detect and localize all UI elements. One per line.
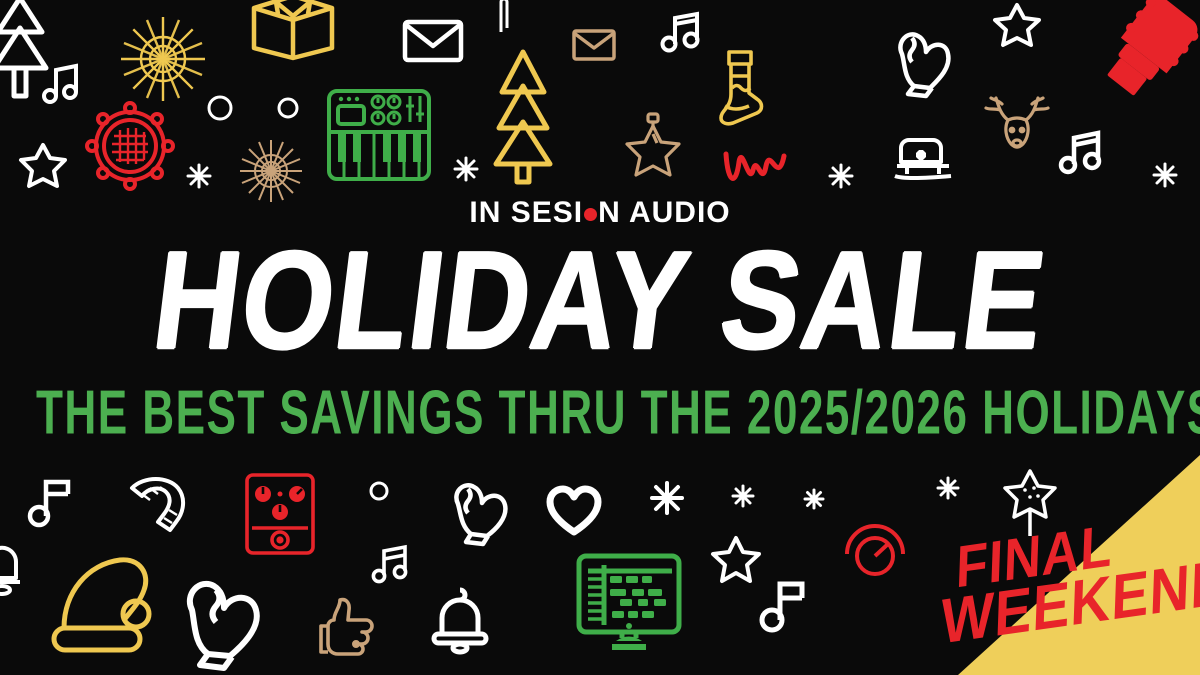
- music-note-icon: [760, 576, 808, 634]
- bell-ornament-icon: [0, 546, 28, 606]
- snowflake-small-icon: [803, 488, 825, 510]
- star-outline-icon: [710, 535, 762, 585]
- thumbs-up-icon: [316, 596, 374, 656]
- heart-icon: [546, 486, 602, 536]
- snowflake-small-icon: [828, 163, 854, 189]
- midi-keyboard-icon: [326, 88, 432, 182]
- snowflake-small-icon: [1184, 493, 1200, 517]
- music-note-double-icon: [660, 10, 704, 56]
- guitar-pedal-icon: [244, 472, 316, 556]
- music-note-double-icon: [1058, 128, 1106, 178]
- tree-icon-gold: [494, 48, 552, 184]
- holiday-sale-banner: IN SESIN AUDIO HOLIDAY SALE THE BEST SAV…: [0, 0, 1200, 675]
- snowflake-small-icon: [936, 476, 960, 500]
- circle-outline-icon: [368, 480, 390, 502]
- vu-meter-icon: [843, 516, 907, 578]
- guitar-headstock-icon: [1086, 0, 1200, 106]
- snowflake-small-icon: [1152, 162, 1178, 188]
- star-magic-icon: [1003, 468, 1057, 538]
- reindeer-icon: [982, 96, 1052, 158]
- mitten-icon-large: [176, 576, 268, 672]
- star-ornament-icon: [622, 112, 684, 178]
- santa-hat-icon: [44, 556, 168, 656]
- daw-monitor-icon: [576, 553, 682, 653]
- music-note-double-icon: [42, 62, 82, 106]
- page-subtitle: THE BEST SAVINGS THRU THE 2025/2026 HOLI…: [36, 380, 1164, 442]
- snowflake-icon: [650, 481, 684, 515]
- paperclip-icon: [496, 0, 512, 36]
- tambourine-icon: [84, 100, 176, 192]
- stocking-icon: [715, 48, 767, 128]
- snowflake-starburst-icon: [118, 14, 208, 104]
- brand-logo-dot: [584, 208, 597, 221]
- gift-box-icon: [248, 0, 338, 60]
- promo-text-block: IN SESIN AUDIO HOLIDAY SALE THE BEST SAV…: [0, 196, 1200, 435]
- sled-icon: [893, 130, 957, 182]
- mitten-icon: [890, 28, 954, 100]
- bell-icon: [430, 586, 490, 652]
- page-title: HOLIDAY SALE: [0, 234, 1200, 370]
- waveform-squiggle-icon: [722, 150, 790, 190]
- circle-outline-icon: [206, 94, 234, 122]
- circle-outline-icon: [276, 96, 300, 120]
- star-outline-icon: [18, 142, 68, 190]
- snowflake-small-icon: [453, 156, 479, 182]
- mitten-icon: [448, 480, 512, 546]
- envelope-small-icon: [572, 28, 616, 62]
- star-outline-icon: [993, 2, 1041, 48]
- music-note-icon: [28, 474, 74, 528]
- snowflake-small-icon: [731, 484, 755, 508]
- envelope-icon: [402, 18, 464, 64]
- snowflake-starburst-icon: [238, 138, 304, 204]
- snowflake-small-icon: [186, 163, 212, 189]
- candy-cane-icon: [126, 478, 192, 534]
- music-note-double-icon: [370, 543, 410, 587]
